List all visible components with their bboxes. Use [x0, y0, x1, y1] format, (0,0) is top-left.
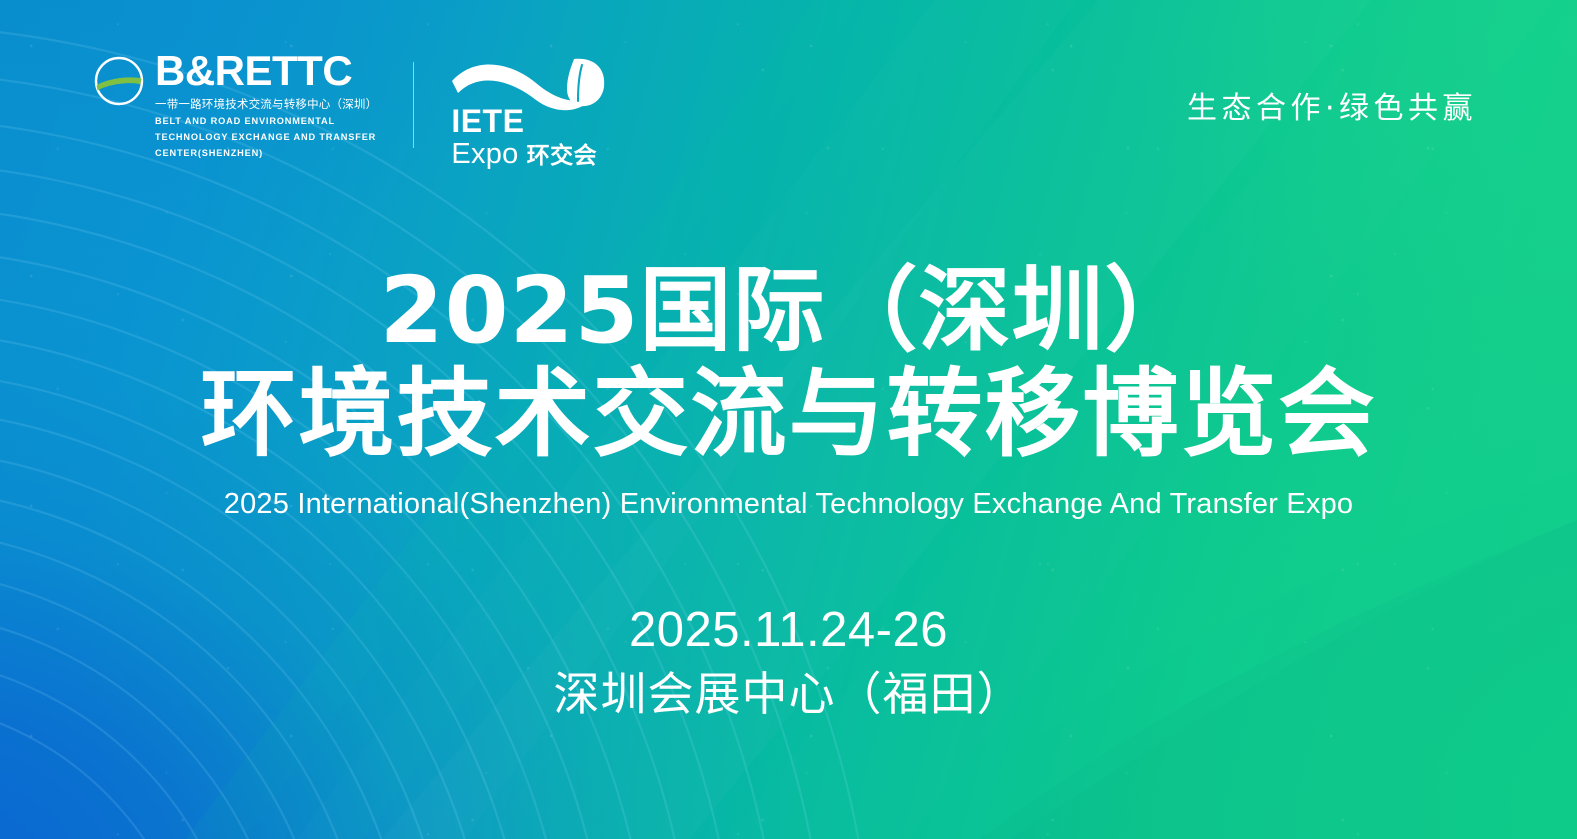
- event-banner: B&RETTC 一带一路环境技术交流与转移中心（深圳） BELT AND ROA…: [0, 0, 1577, 839]
- iete-subline: Expo 环交会: [451, 139, 597, 169]
- title-line-2: 环境技术交流与转移博览会: [0, 362, 1577, 468]
- event-date: 2025.11.24-26: [0, 603, 1577, 658]
- title-english-subtitle: 2025 International(Shenzhen) Environment…: [0, 488, 1577, 521]
- title-line-1: 2025国际（深圳）: [0, 262, 1577, 360]
- brettc-text-block: B&RETTC 一带一路环境技术交流与转移中心（深圳） BELT AND ROA…: [155, 50, 377, 160]
- banner-header: B&RETTC 一带一路环境技术交流与转移中心（深圳） BELT AND ROA…: [0, 0, 1577, 210]
- event-slogan: 生态合作·绿色共赢: [1187, 83, 1477, 127]
- brettc-wordmark: B&RETTC: [155, 50, 377, 92]
- iete-chinese-label: 环交会: [527, 144, 598, 168]
- brettc-chinese-name: 一带一路环境技术交流与转移中心（深圳）: [155, 96, 377, 112]
- brettc-english-line-2: TECHNOLOGY EXCHANGE AND TRANSFER: [155, 131, 377, 144]
- iete-expo-logo[interactable]: IETE Expo 环交会: [450, 53, 615, 157]
- event-info-block: 2025.11.24-26 深圳会展中心（福田）: [0, 603, 1577, 721]
- banner-content: B&RETTC 一带一路环境技术交流与转移中心（深圳） BELT AND ROA…: [0, 0, 1577, 839]
- logo-divider: [413, 62, 414, 148]
- brettc-logo[interactable]: B&RETTC 一带一路环境技术交流与转移中心（深圳） BELT AND ROA…: [92, 50, 377, 160]
- iete-wordmark: IETE: [451, 105, 597, 137]
- globe-ring-icon: [92, 54, 146, 113]
- brettc-english-line-1: BELT AND ROAD ENVIRONMENTAL: [155, 115, 377, 128]
- brettc-english-line-3: CENTER(SHENZHEN): [155, 147, 377, 160]
- logo-group: B&RETTC 一带一路环境技术交流与转移中心（深圳） BELT AND ROA…: [92, 50, 615, 160]
- event-venue: 深圳会展中心（福田）: [0, 668, 1577, 721]
- iete-text-block: IETE Expo 环交会: [451, 105, 597, 169]
- main-title-block: 2025国际（深圳） 环境技术交流与转移博览会 2025 Internation…: [0, 262, 1577, 521]
- iete-expo-label: Expo: [451, 139, 518, 169]
